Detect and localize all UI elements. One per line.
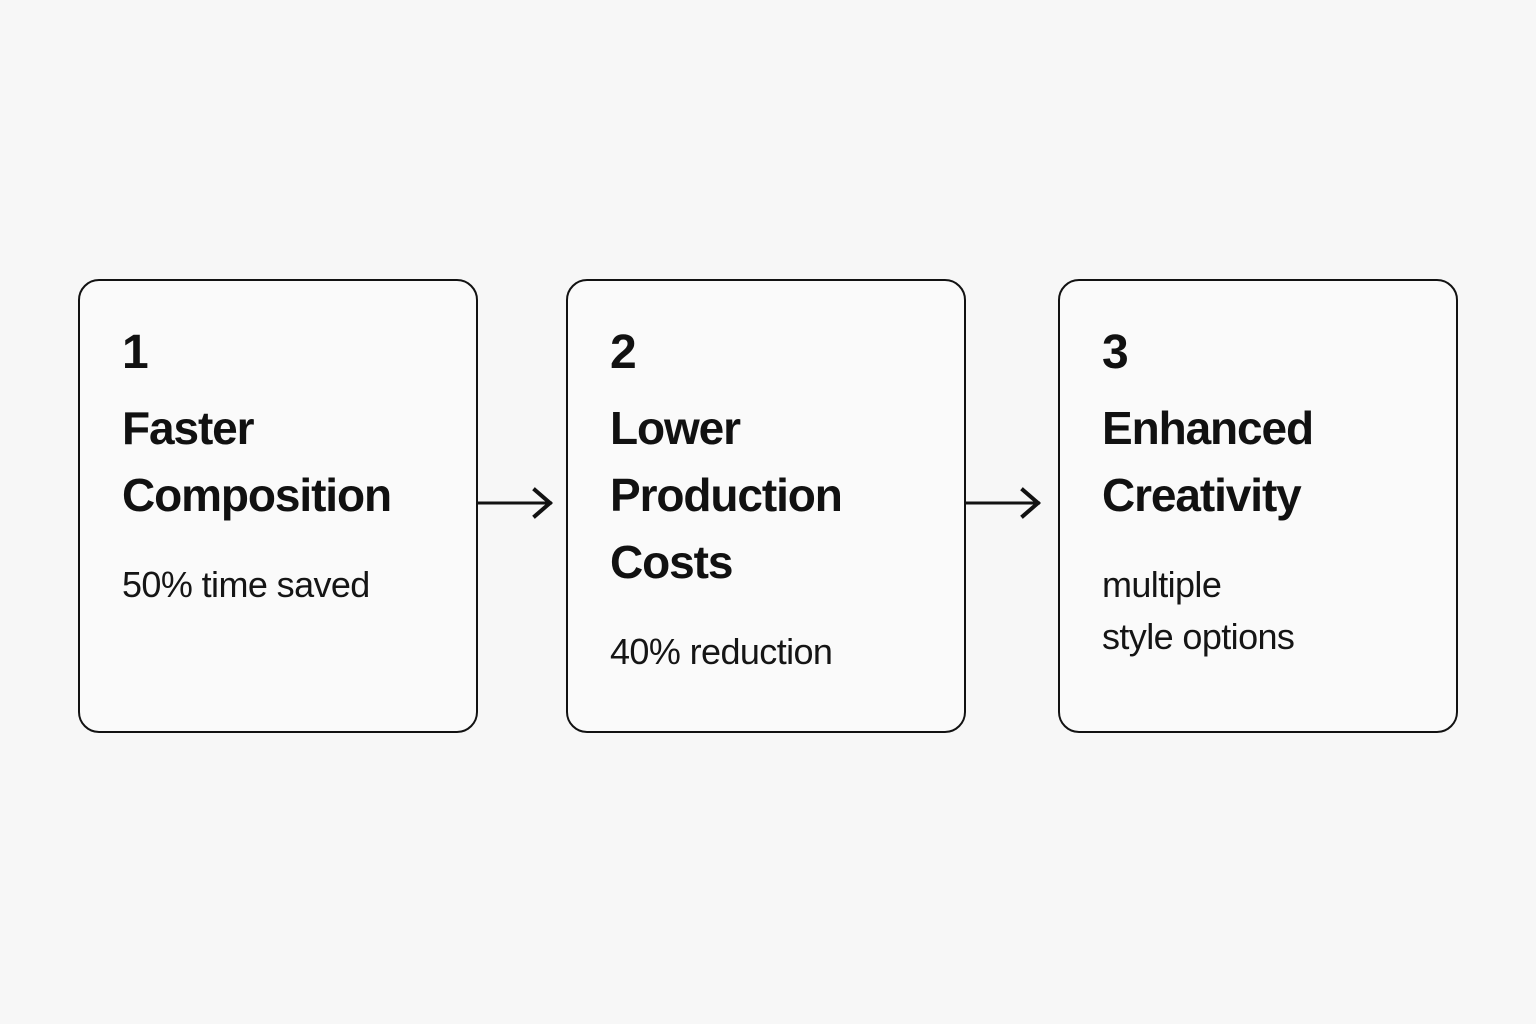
step-card-2[interactable]: 2 Lower Production Costs 40% reduction [566, 279, 966, 733]
step-title: Enhanced Creativity [1102, 395, 1432, 529]
step-metric: multiple style options [1102, 559, 1412, 663]
step-card-3[interactable]: 3 Enhanced Creativity multiple style opt… [1058, 279, 1458, 733]
step-number: 3 [1102, 325, 1456, 381]
arrow-right-icon [478, 486, 566, 520]
step-card-1[interactable]: 1 Faster Composition 50% time saved [78, 279, 478, 733]
step-title: Faster Composition [122, 395, 452, 529]
step-number: 2 [610, 325, 964, 381]
step-metric: 50% time saved [122, 559, 432, 611]
step-metric: 40% reduction [610, 626, 920, 678]
step-number: 1 [122, 325, 476, 381]
arrow-right-icon [966, 486, 1054, 520]
diagram-canvas: 1 Faster Composition 50% time saved 2 Lo… [0, 0, 1536, 1024]
step-title: Lower Production Costs [610, 395, 940, 596]
